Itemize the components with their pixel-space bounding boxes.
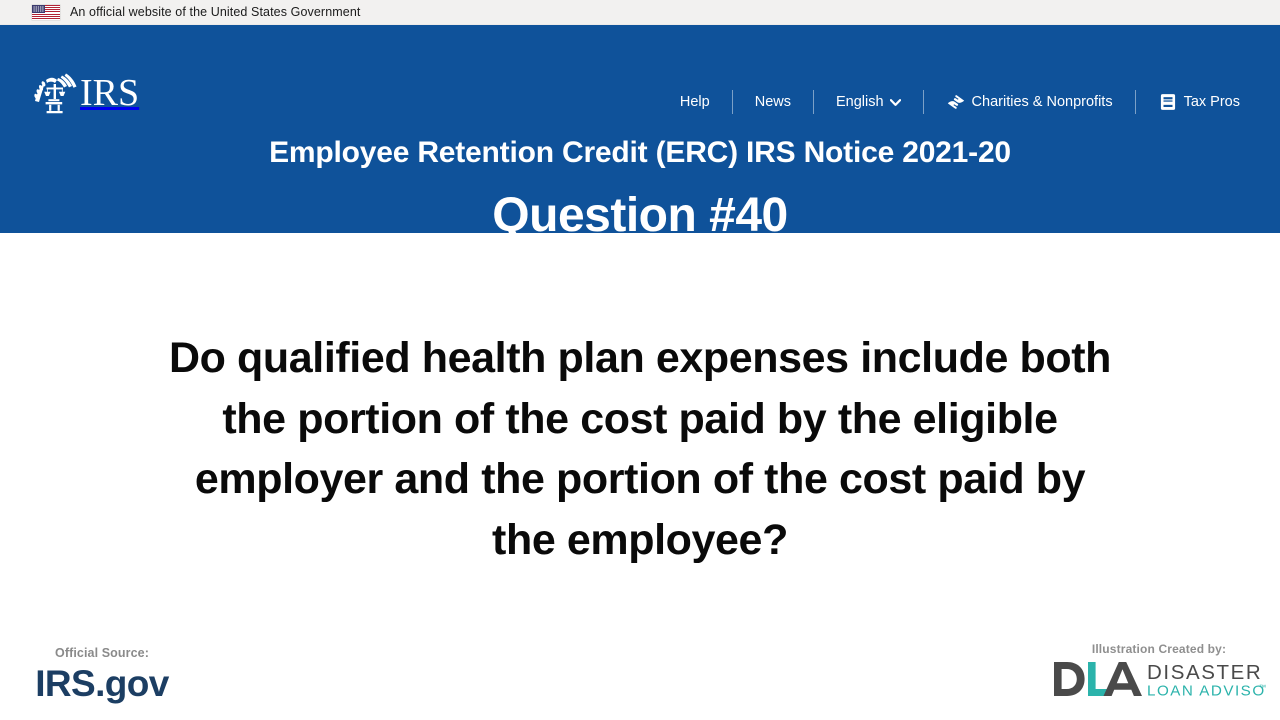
official-source-label: Official Source: xyxy=(22,646,182,660)
question-number-heading: Question #40 xyxy=(0,188,1280,233)
nav-item-help[interactable]: Help xyxy=(658,94,732,110)
nav-item-tax-pros[interactable]: Tax Pros xyxy=(1136,92,1262,112)
nav-item-language[interactable]: English xyxy=(814,94,923,110)
irs-eagle-scales-emblem-icon xyxy=(32,71,78,115)
illustration-credit-block: Illustration Created by: DISASTER LOAN A… xyxy=(1052,642,1266,702)
illustration-credit-label: Illustration Created by: xyxy=(1052,642,1266,656)
svg-text:LOAN ADVISORS: LOAN ADVISORS xyxy=(1147,683,1266,700)
slide-root: An official website of the United States… xyxy=(0,0,1280,720)
question-body-text: Do qualified health plan expenses includ… xyxy=(160,328,1120,570)
us-government-banner: An official website of the United States… xyxy=(0,0,1280,25)
nav-label-english: English xyxy=(836,94,884,110)
nav-item-charities-nonprofits[interactable]: Charities & Nonprofits xyxy=(924,92,1135,112)
nav-label-tax-pros: Tax Pros xyxy=(1184,94,1240,110)
dla-logo: DISASTER LOAN ADVISORS ™ xyxy=(1052,658,1266,702)
helping-hands-icon xyxy=(946,92,966,112)
svg-text:DISASTER: DISASTER xyxy=(1147,661,1262,684)
official-source-value: IRS.gov xyxy=(22,664,182,704)
page-title: Employee Retention Credit (ERC) IRS Noti… xyxy=(0,136,1280,170)
disaster-loan-advisors-logo-icon: DISASTER LOAN ADVISORS ™ xyxy=(1052,658,1266,702)
gov-banner-text: An official website of the United States… xyxy=(70,5,360,19)
header-nav: Help News English xyxy=(658,87,1262,117)
chevron-down-icon xyxy=(890,97,901,108)
slide-body: Do qualified health plan expenses includ… xyxy=(0,233,1280,720)
nav-label-charities-nonprofits: Charities & Nonprofits xyxy=(972,94,1113,110)
us-flag-icon xyxy=(32,5,60,20)
svg-text:™: ™ xyxy=(1259,685,1266,692)
official-source-block: Official Source: IRS.gov xyxy=(22,646,182,704)
nav-item-news[interactable]: News xyxy=(733,94,813,110)
irs-logo-link[interactable]: IRS xyxy=(32,69,139,117)
nav-label-news: News xyxy=(755,94,791,110)
nav-label-help: Help xyxy=(680,94,710,110)
irs-site-header: IRS Help News English xyxy=(0,25,1280,233)
ledger-book-icon xyxy=(1158,92,1178,112)
irs-logo-wordmark: IRS xyxy=(80,74,139,112)
